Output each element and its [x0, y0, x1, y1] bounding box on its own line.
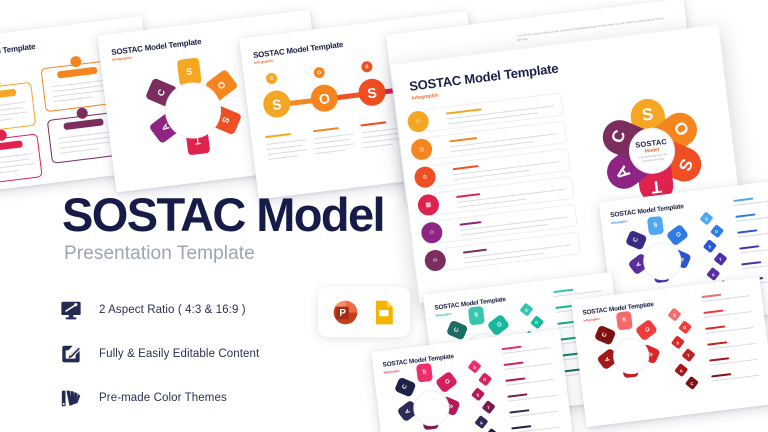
- ring-segment-c[interactable]: C: [625, 230, 647, 251]
- theme-ring: S O S T A C: [592, 317, 670, 395]
- slide-title: SOSTAC Model Template: [610, 203, 684, 219]
- slide-title: SOSTAC Model Template: [408, 61, 559, 94]
- ring-segment-c[interactable]: C: [394, 377, 416, 398]
- ring-segment-c[interactable]: C: [446, 320, 468, 341]
- card-bullet: [0, 78, 1, 90]
- hub-note: A structured approach for marketing plan…: [635, 153, 672, 165]
- ring-segment-s1[interactable]: S: [616, 311, 633, 331]
- slide-subtitle: Infographic: [611, 219, 628, 225]
- diamond-node[interactable]: C: [685, 376, 699, 390]
- ring-segment-o[interactable]: O: [487, 314, 510, 337]
- diamond-node[interactable]: S: [519, 303, 533, 317]
- ring-segment-s1[interactable]: S: [647, 216, 664, 236]
- card-box[interactable]: [0, 82, 36, 134]
- sostac-ring-diagram: S O S T A C: [135, 53, 251, 169]
- diamond-chain: S O S T A C: [665, 307, 710, 402]
- diamond-node[interactable]: O: [530, 315, 544, 329]
- diamond-node[interactable]: S: [699, 211, 713, 225]
- svg-text:P: P: [339, 308, 346, 319]
- ring-hub: [641, 240, 683, 282]
- ring-segment-o[interactable]: O: [635, 319, 658, 342]
- slide-subtitle: Infographic: [254, 59, 274, 65]
- page-subtitle: Presentation Template: [64, 243, 255, 265]
- diamond-node[interactable]: O: [678, 320, 692, 334]
- chain-badge: O: [313, 66, 325, 78]
- card-tab: [0, 89, 17, 101]
- diamond-node[interactable]: O: [710, 224, 724, 238]
- monitor-icon: [60, 299, 82, 321]
- feature-item-editable: Fully & Easily Editable Content: [60, 337, 259, 370]
- poster-stage: SOSTAC Model Template Infographic: [0, 0, 768, 432]
- slide-title: SOSTAC Model Template: [0, 42, 36, 62]
- diamond-node[interactable]: A: [474, 415, 488, 429]
- diamond-node[interactable]: T: [681, 348, 695, 362]
- slide-theme-red[interactable]: SOSTAC Model Template Infographic S O S …: [571, 277, 768, 427]
- diamond-node[interactable]: S: [671, 335, 685, 349]
- slide-title: SOSTAC Model Template: [253, 40, 344, 60]
- slide-title: SOSTAC Model Template: [111, 37, 202, 57]
- chain-node-o[interactable]: O: [309, 83, 339, 113]
- chain-node-s1[interactable]: S: [262, 89, 292, 119]
- diamond-node[interactable]: O: [478, 372, 492, 386]
- slide-subtitle: Infographic: [112, 56, 132, 62]
- diamond-node[interactable]: S: [471, 387, 485, 401]
- card-box[interactable]: [0, 133, 43, 185]
- card-tab: [57, 67, 98, 79]
- slide-subtitle: Infographic: [383, 369, 400, 375]
- ring-hub: [611, 336, 651, 376]
- slide-subtitle: Infographic: [435, 312, 452, 318]
- chain-badge: S: [265, 72, 277, 84]
- ring-segment-c[interactable]: C: [594, 325, 616, 346]
- feature-label: 2 Aspect Ratio ( 4:3 & 16:9 ): [99, 304, 246, 316]
- slide-subtitle: Infographic: [583, 317, 600, 323]
- diamond-node[interactable]: S: [468, 360, 482, 374]
- card-bullet: [76, 107, 88, 119]
- card-tab: [0, 140, 23, 152]
- feature-item-aspect-ratio: 2 Aspect Ratio ( 4:3 & 16:9 ): [60, 293, 259, 326]
- app-format-badges: P: [318, 287, 410, 337]
- ring-hub: [411, 388, 451, 428]
- feature-item-color-themes: Pre-made Color Themes: [60, 381, 259, 414]
- slide-subtitle: Infographic: [412, 92, 440, 101]
- ring-segment-s1[interactable]: S: [468, 306, 485, 326]
- chain-node-s2[interactable]: S: [357, 77, 387, 107]
- feature-label: Fully & Easily Editable Content: [99, 348, 259, 360]
- diamond-node[interactable]: C: [485, 428, 499, 432]
- google-slides-icon: [370, 299, 397, 326]
- feature-label: Pre-made Color Themes: [99, 392, 227, 404]
- diamond-node[interactable]: S: [667, 308, 681, 322]
- page-title: SOSTAC Model: [62, 191, 384, 238]
- card-bullet: [70, 56, 82, 68]
- diamond-node[interactable]: S: [703, 239, 717, 253]
- card-tab: [63, 118, 104, 130]
- theme-ring: S O S T A C: [392, 369, 470, 432]
- powerpoint-icon: P: [332, 299, 359, 326]
- slide-theme-pink[interactable]: SOSTAC Model Template Infographic S O S …: [371, 329, 575, 432]
- diamond-node[interactable]: T: [482, 400, 496, 414]
- ring-segment-o[interactable]: O: [435, 371, 458, 394]
- feature-list: 2 Aspect Ratio ( 4:3 & 16:9 ) Fully & Ea…: [60, 293, 259, 425]
- color-swatch-icon: [60, 387, 82, 409]
- ring-segment-s1[interactable]: S: [416, 363, 433, 383]
- diamond-node[interactable]: A: [674, 363, 688, 377]
- diamond-node[interactable]: T: [713, 252, 727, 266]
- chain-badge: S: [361, 61, 373, 73]
- card-bullet: [0, 129, 7, 141]
- diamond-node[interactable]: A: [706, 267, 720, 281]
- edit-pencil-icon: [60, 343, 82, 365]
